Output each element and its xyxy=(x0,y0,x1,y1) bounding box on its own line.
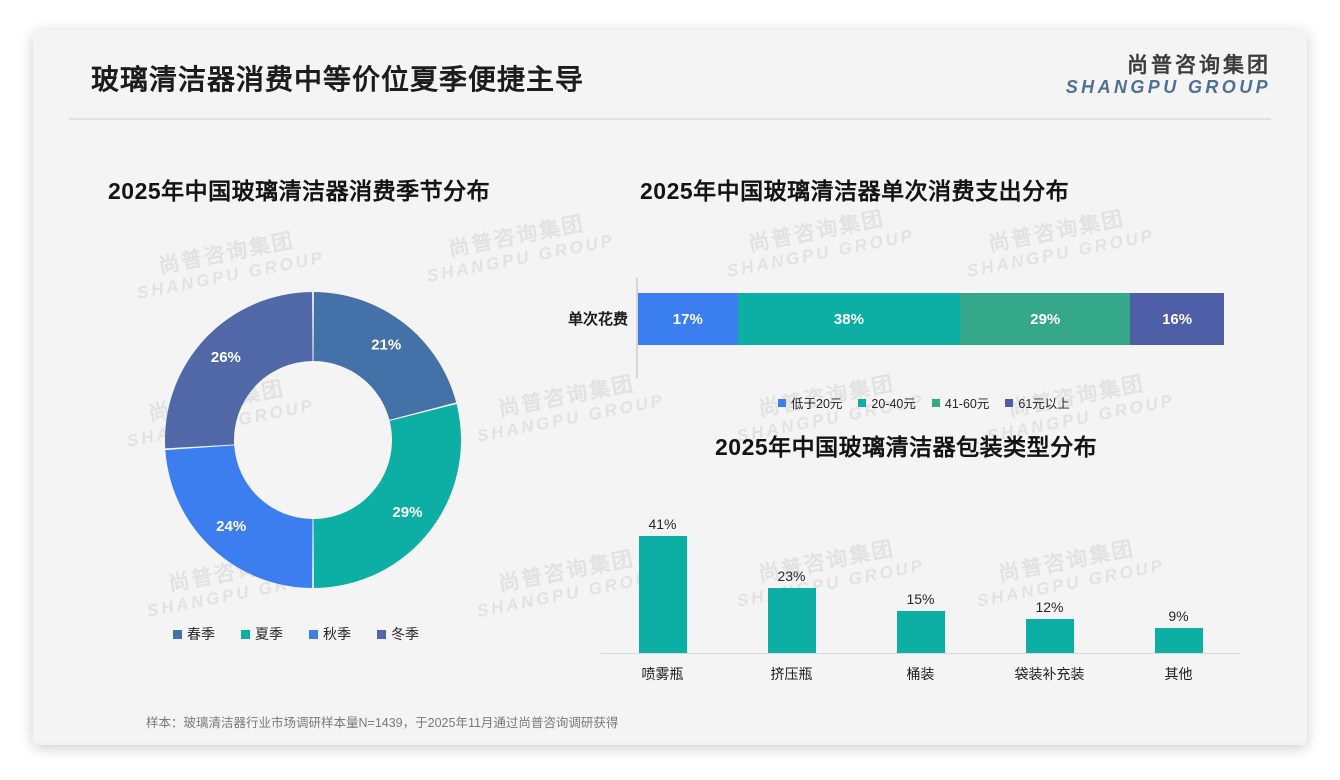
spend-stacked-chart: 单次花费 17%38%29%16% xyxy=(533,278,1233,378)
column-value-label: 15% xyxy=(906,591,934,607)
donut-slice-label: 26% xyxy=(211,349,241,366)
legend-swatch-icon xyxy=(241,630,250,639)
logo-en-text: SHANGPU GROUP xyxy=(1066,77,1271,98)
legend-swatch-icon xyxy=(932,399,940,407)
legend-label: 春季 xyxy=(187,624,215,644)
watermark-cn-text: 尚普咨询集团 xyxy=(961,202,1153,262)
legend-label: 夏季 xyxy=(255,624,283,644)
column-bar-其他[interactable] xyxy=(1155,628,1203,654)
legend-item-41-60元[interactable]: 41-60元 xyxy=(932,393,989,412)
column-category-label: 挤压瓶 xyxy=(771,664,813,684)
stacked-category-label: 单次花费 xyxy=(533,308,628,329)
column-value-label: 23% xyxy=(777,568,805,584)
stacked-segment-20-40元[interactable]: 38% xyxy=(738,293,961,345)
column-value-label: 41% xyxy=(648,516,676,532)
watermark-en-text: SHANGPU GROUP xyxy=(725,225,916,280)
column-category-label: 其他 xyxy=(1165,664,1193,684)
column-value-label: 9% xyxy=(1168,608,1188,624)
legend-label: 低于20元 xyxy=(791,393,842,412)
column-baseline xyxy=(601,653,1240,655)
legend-item-冬季[interactable]: 冬季 xyxy=(377,624,419,644)
stacked-segment-41-60元[interactable]: 29% xyxy=(960,293,1130,345)
column-group: 41%喷雾瓶 xyxy=(598,500,727,654)
stacked-bar-track: 17%38%29%16% xyxy=(638,293,1224,345)
column-value-label: 12% xyxy=(1035,599,1063,615)
donut-slice-label: 29% xyxy=(392,504,422,521)
legend-swatch-icon xyxy=(1005,399,1013,407)
legend-swatch-icon xyxy=(858,399,866,407)
logo-cn-text: 尚普咨询集团 xyxy=(1066,54,1271,77)
column-category-label: 喷雾瓶 xyxy=(642,664,684,684)
watermark-cn-text: 尚普咨询集团 xyxy=(421,207,613,267)
column-bar-挤压瓶[interactable] xyxy=(768,588,816,654)
sample-footnote: 样本：玻璃清洁器行业市场调研样本量N=1439，于2025年11月通过尚普咨询调… xyxy=(146,712,618,731)
donut-slice-label: 24% xyxy=(216,518,246,535)
legend-item-春季[interactable]: 春季 xyxy=(173,624,215,644)
legend-label: 41-60元 xyxy=(945,393,989,412)
legend-swatch-icon xyxy=(173,630,182,639)
donut-svg: 21%29%24%26% xyxy=(133,273,493,608)
legend-item-夏季[interactable]: 夏季 xyxy=(241,624,283,644)
chart-title-spend: 2025年中国玻璃清洁器单次消费支出分布 xyxy=(640,172,1069,206)
watermark-cn-text: 尚普咨询集团 xyxy=(721,202,913,262)
column-group: 12%袋装补充装 xyxy=(985,500,1114,654)
legend-swatch-icon xyxy=(778,399,786,407)
watermark-en-text: SHANGPU GROUP xyxy=(965,225,1156,280)
legend-item-秋季[interactable]: 秋季 xyxy=(309,624,351,644)
watermark-en-text: SHANGPU GROUP xyxy=(475,390,666,445)
legend-label: 61元以上 xyxy=(1018,393,1069,412)
legend-label: 冬季 xyxy=(391,624,419,644)
column-bar-袋装补充装[interactable] xyxy=(1026,619,1074,654)
column-group: 15%桶装 xyxy=(856,500,985,654)
package-column-chart: 41%喷雾瓶23%挤压瓶15%桶装12%袋装补充装9%其他 xyxy=(598,500,1243,690)
slide-header: 玻璃清洁器消费中等价位夏季便捷主导 尚普咨询集团 SHANGPU GROUP xyxy=(33,30,1307,120)
slide-card: 尚普咨询集团SHANGPU GROUP 尚普咨询集团SHANGPU GROUP … xyxy=(33,30,1307,745)
legend-swatch-icon xyxy=(377,630,386,639)
page-title: 玻璃清洁器消费中等价位夏季便捷主导 xyxy=(91,58,584,98)
spend-legend: 低于20元20-40元41-60元61元以上 xyxy=(778,393,1070,412)
slide-footer: ©2026.1 SHANGPU GROUP www.shangpu-china.… xyxy=(33,742,1307,745)
column-group: 23%挤压瓶 xyxy=(727,500,856,654)
legend-label: 秋季 xyxy=(323,624,351,644)
brand-logo: 尚普咨询集团 SHANGPU GROUP xyxy=(1066,54,1271,98)
stacked-segment-61元以上[interactable]: 16% xyxy=(1130,293,1224,345)
donut-slice-冬季[interactable] xyxy=(165,292,313,448)
donut-slice-春季[interactable] xyxy=(313,292,456,420)
legend-item-61元以上[interactable]: 61元以上 xyxy=(1005,393,1069,412)
chart-title-package: 2025年中国玻璃清洁器包装类型分布 xyxy=(715,428,1097,462)
legend-item-低于20元[interactable]: 低于20元 xyxy=(778,393,842,412)
column-group: 9%其他 xyxy=(1114,500,1243,654)
legend-label: 20-40元 xyxy=(871,393,915,412)
column-bar-桶装[interactable] xyxy=(897,611,945,654)
column-category-label: 桶装 xyxy=(907,664,935,684)
legend-swatch-icon xyxy=(309,630,318,639)
season-legend: 春季夏季秋季冬季 xyxy=(173,624,419,644)
season-donut-chart: 21%29%24%26% xyxy=(133,273,493,608)
donut-slice-秋季[interactable] xyxy=(165,445,312,588)
column-bar-喷雾瓶[interactable] xyxy=(639,536,687,654)
column-bars-container: 41%喷雾瓶23%挤压瓶15%桶装12%袋装补充装9%其他 xyxy=(598,500,1243,654)
stacked-segment-低于20元[interactable]: 17% xyxy=(638,293,738,345)
donut-slice-夏季[interactable] xyxy=(313,404,461,588)
column-category-label: 袋装补充装 xyxy=(1015,664,1085,684)
chart-title-season: 2025年中国玻璃清洁器消费季节分布 xyxy=(108,172,490,206)
donut-slice-label: 21% xyxy=(371,337,401,354)
legend-item-20-40元[interactable]: 20-40元 xyxy=(858,393,915,412)
